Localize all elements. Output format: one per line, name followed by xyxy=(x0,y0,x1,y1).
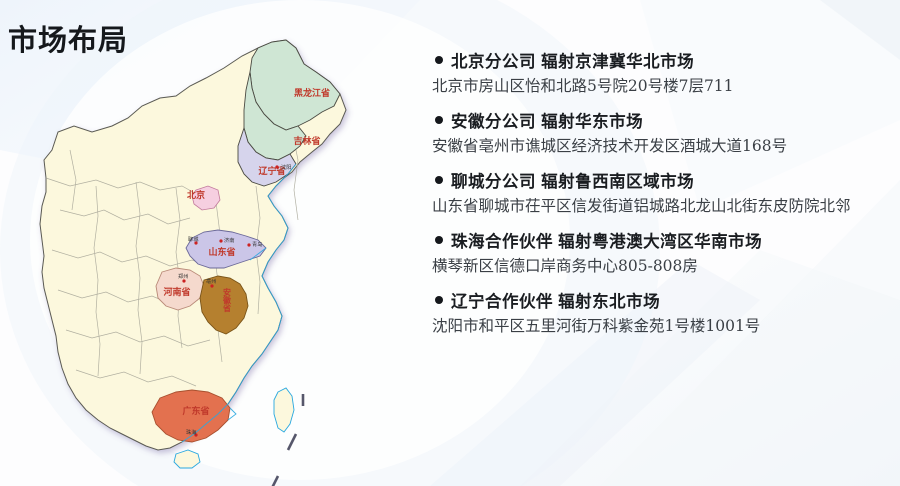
province-label-anhui: 安徽省 xyxy=(222,287,232,313)
province-label-guangdong: 广东省 xyxy=(182,405,209,417)
taiwan-island xyxy=(274,388,294,432)
office-address: 横琴新区信德口岸商务中心805-808房 xyxy=(432,256,884,277)
list-item: 北京分公司 辐射京津冀华北市场 北京市房山区怡和北路5号院20号楼7层711 xyxy=(430,48,896,97)
city-label-zhengzhou: 郑州 xyxy=(178,272,188,280)
province-label-shandong: 山东省 xyxy=(208,246,235,258)
province-label-heilongjiang: 黑龙江省 xyxy=(294,87,330,99)
office-address: 山东省聊城市茌平区信发街道铝城路北龙山北街东皮防院北邻 xyxy=(432,196,884,217)
city-label-shenyang: 沈阳 xyxy=(281,163,291,171)
office-address: 沈阳市和平区五里河街万科紫金苑1号楼1001号 xyxy=(432,316,884,337)
bullet-icon xyxy=(435,296,443,304)
office-heading-row: 珠海合作伙伴 辐射粤港澳大湾区华南市场 xyxy=(430,228,896,252)
office-heading: 聊城分公司 辐射鲁西南区域市场 xyxy=(451,168,694,192)
china-map-panel: 黑龙江省 吉林省 辽宁省 北京 山东省 河南省 安徽省 广东省 沈阳 聊城 济南… xyxy=(0,10,420,486)
province-label-jilin: 吉林省 xyxy=(293,135,320,147)
city-label-qingdao: 青岛 xyxy=(252,240,262,248)
office-address: 安徽省亳州市谯城区经济技术开发区酒城大道168号 xyxy=(432,136,884,157)
office-heading: 辽宁合作伙伴 辐射东北市场 xyxy=(451,288,660,312)
city-label-zhuhai: 珠海 xyxy=(186,428,196,436)
office-heading: 珠海合作伙伴 辐射粤港澳大湾区华南市场 xyxy=(451,228,762,252)
office-list: 北京分公司 辐射京津冀华北市场 北京市房山区怡和北路5号院20号楼7层711 安… xyxy=(430,48,896,348)
list-item: 安徽分公司 辐射华东市场 安徽省亳州市谯城区经济技术开发区酒城大道168号 xyxy=(430,108,896,157)
office-heading-row: 安徽分公司 辐射华东市场 xyxy=(430,108,896,132)
office-heading-row: 北京分公司 辐射京津冀华北市场 xyxy=(430,48,896,72)
bullet-icon xyxy=(435,236,443,244)
list-item: 辽宁合作伙伴 辐射东北市场 沈阳市和平区五里河街万科紫金苑1号楼1001号 xyxy=(430,288,896,337)
office-heading: 安徽分公司 辐射华东市场 xyxy=(451,108,643,132)
office-heading-row: 辽宁合作伙伴 辐射东北市场 xyxy=(430,288,896,312)
bullet-icon xyxy=(435,56,443,64)
page-title: 市场布局 xyxy=(8,26,128,58)
china-map: 黑龙江省 吉林省 辽宁省 北京 山东省 河南省 安徽省 广东省 沈阳 聊城 济南… xyxy=(0,10,420,486)
city-label-bozhou: 亳州 xyxy=(206,277,216,285)
list-item: 珠海合作伙伴 辐射粤港澳大湾区华南市场 横琴新区信德口岸商务中心805-808房 xyxy=(430,228,896,277)
province-label-henan: 河南省 xyxy=(163,286,190,298)
office-address: 北京市房山区怡和北路5号院20号楼7层711 xyxy=(432,76,884,97)
hainan-island xyxy=(174,450,200,468)
bullet-icon xyxy=(435,176,443,184)
city-label-jinan: 济南 xyxy=(224,236,234,244)
office-heading-row: 聊城分公司 辐射鲁西南区域市场 xyxy=(430,168,896,192)
province-label-beijing: 北京 xyxy=(187,189,205,201)
list-item: 聊城分公司 辐射鲁西南区域市场 山东省聊城市茌平区信发街道铝城路北龙山北街东皮防… xyxy=(430,168,896,217)
bullet-icon xyxy=(435,116,443,124)
city-label-liaocheng: 聊城 xyxy=(188,235,199,243)
office-heading: 北京分公司 辐射京津冀华北市场 xyxy=(451,48,694,72)
